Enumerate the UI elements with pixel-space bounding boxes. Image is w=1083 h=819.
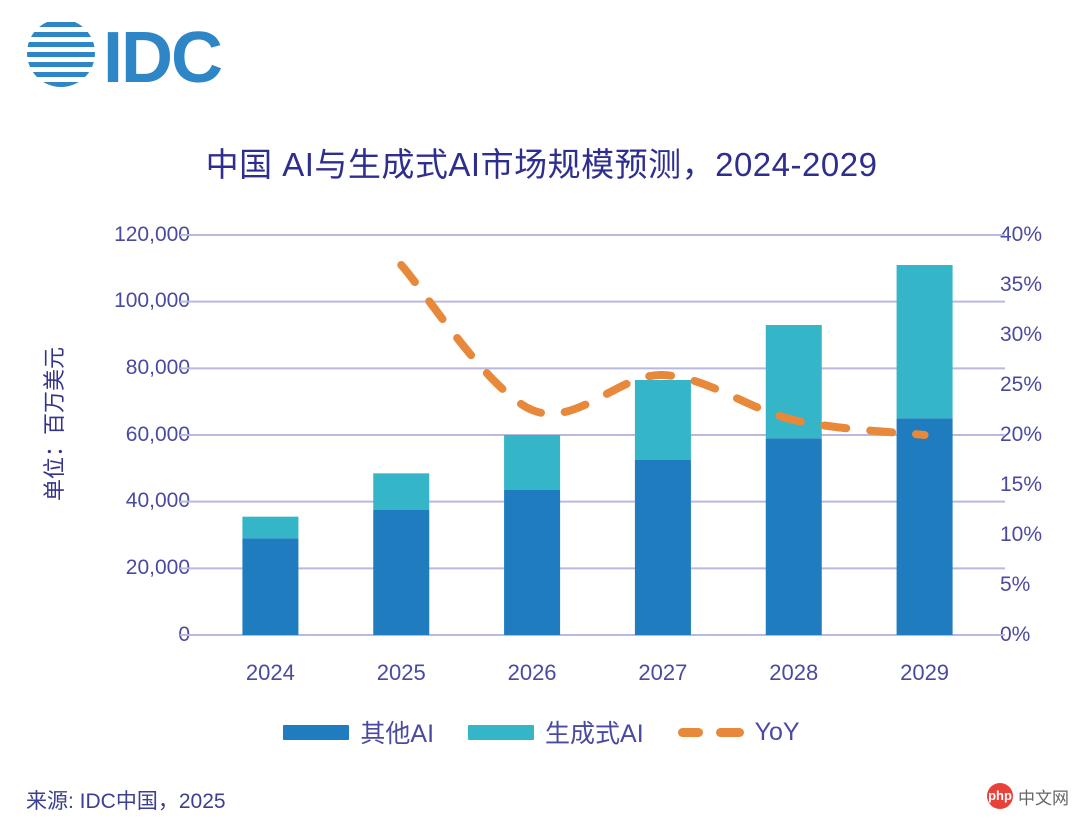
x-tick-label: 2029 bbox=[900, 660, 949, 686]
bar-segment[interactable] bbox=[373, 473, 429, 510]
bar-segment[interactable] bbox=[242, 517, 298, 539]
chart-plot-area: 单位：百万美元 0 20,000 40,000 60,000 80,000 10… bbox=[0, 0, 1083, 819]
legend-label: YoY bbox=[755, 718, 800, 747]
bar-segment[interactable] bbox=[897, 265, 953, 418]
watermark-text: 中文网 bbox=[1018, 784, 1069, 809]
legend-item-genai[interactable]: 生成式AI bbox=[468, 714, 644, 750]
legend-item-yoy[interactable]: YoY bbox=[678, 718, 800, 747]
bar-segment[interactable] bbox=[897, 418, 953, 635]
x-tick-label: 2027 bbox=[638, 660, 687, 686]
legend-item-other-ai[interactable]: 其他AI bbox=[283, 714, 434, 750]
watermark: php 中文网 bbox=[987, 783, 1069, 809]
bar-segment[interactable] bbox=[504, 490, 560, 635]
bar-segment[interactable] bbox=[242, 538, 298, 635]
php-badge-icon: php bbox=[987, 783, 1013, 809]
bar-segment[interactable] bbox=[635, 460, 691, 635]
legend-dashed-line-icon bbox=[678, 728, 744, 737]
legend-label: 生成式AI bbox=[545, 714, 644, 750]
bar-series-group bbox=[242, 265, 952, 635]
bar-segment[interactable] bbox=[766, 438, 822, 635]
chart-legend: 其他AI 生成式AI YoY bbox=[0, 714, 1083, 750]
legend-label: 其他AI bbox=[360, 714, 434, 750]
bar-segment[interactable] bbox=[373, 510, 429, 635]
x-tick-label: 2024 bbox=[246, 660, 295, 686]
x-tick-label: 2028 bbox=[769, 660, 818, 686]
source-note: 来源: IDC中国，2025 bbox=[26, 785, 226, 815]
bar-segment[interactable] bbox=[635, 380, 691, 460]
x-tick-label: 2026 bbox=[508, 660, 557, 686]
bar-segment[interactable] bbox=[504, 435, 560, 490]
x-tick-label: 2025 bbox=[377, 660, 426, 686]
legend-swatch-icon bbox=[283, 725, 349, 740]
legend-swatch-icon bbox=[468, 725, 534, 740]
chart-canvas bbox=[0, 0, 1083, 819]
